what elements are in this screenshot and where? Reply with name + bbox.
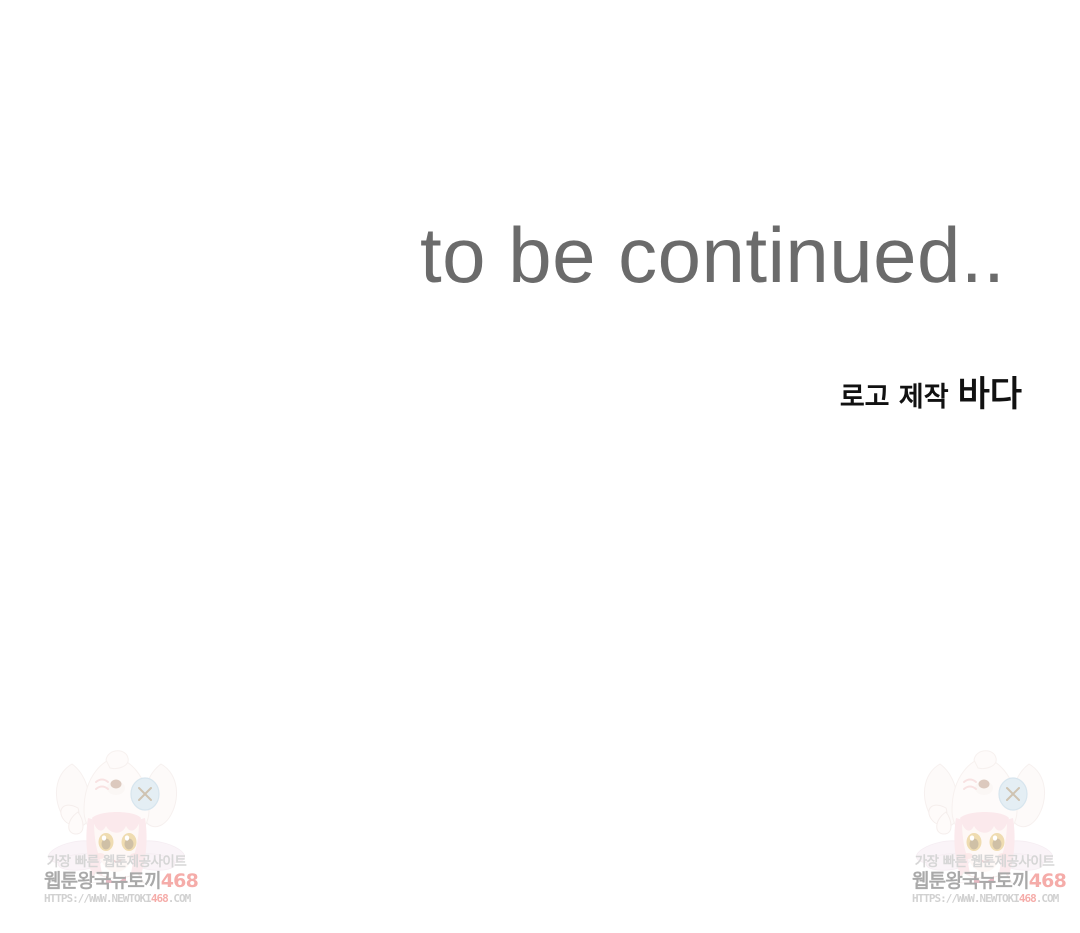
watermark-url-prefix: HTTPS://WWW.NEWTOKI — [44, 892, 151, 905]
watermark-brand-number: 468 — [1029, 870, 1066, 892]
watermark-brand-number: 468 — [161, 870, 198, 892]
to-be-continued-text: to be continued.. — [420, 216, 1024, 294]
watermark-brand: 웹툰왕국뉴토끼468 — [44, 872, 189, 891]
webtoon-end-card: to be continued.. 로고 제작바다 — [0, 0, 1080, 933]
watermark-url-suffix: .COM — [168, 892, 191, 905]
watermark-url: HTTPS://WWW.NEWTOKI468.COM — [912, 893, 1057, 904]
logo-credit-label: 로고 제작 — [840, 382, 949, 413]
watermark-url-number: 468 — [151, 892, 168, 905]
watermark-right: 가장 빠른 웹툰제공사이트 웹툰왕국뉴토끼468 HTTPS://WWW.NEW… — [912, 748, 1057, 923]
watermark-text: 가장 빠른 웹툰제공사이트 웹툰왕국뉴토끼468 HTTPS://WWW.NEW… — [912, 856, 1057, 904]
watermark-left: 가장 빠른 웹툰제공사이트 웹툰왕국뉴토끼468 HTTPS://WWW.NEW… — [44, 748, 189, 923]
logo-credit: 로고 제작바다 — [640, 378, 1022, 413]
watermark-url-prefix: HTTPS://WWW.NEWTOKI — [912, 892, 1019, 905]
watermark-brand-text: 웹툰왕국뉴토끼 — [912, 870, 1029, 892]
watermark-tagline: 가장 빠른 웹툰제공사이트 — [44, 856, 189, 870]
watermark-text: 가장 빠른 웹툰제공사이트 웹툰왕국뉴토끼468 HTTPS://WWW.NEW… — [44, 856, 189, 904]
logo-credit-name: 바다 — [958, 375, 1022, 415]
watermark-tagline: 가장 빠른 웹툰제공사이트 — [912, 856, 1057, 870]
watermark-url-number: 468 — [1019, 892, 1036, 905]
watermark-url: HTTPS://WWW.NEWTOKI468.COM — [44, 893, 189, 904]
watermark-url-suffix: .COM — [1036, 892, 1059, 905]
watermark-brand-text: 웹툰왕국뉴토끼 — [44, 870, 161, 892]
watermark-brand: 웹툰왕국뉴토끼468 — [912, 872, 1057, 891]
